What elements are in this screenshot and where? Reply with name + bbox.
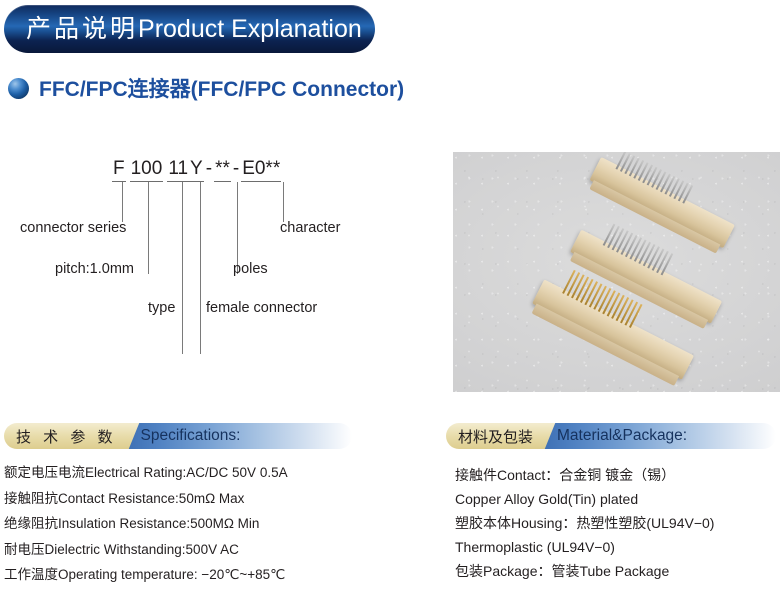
material-list: 接触件Contact：合金铜 镀金（锡） Copper Alloy Gold(T… [455,468,714,588]
section-title-label: FFC/FPC连接器(FFC/FPC Connector) [39,73,404,103]
callout-connector-series: connector series [20,220,126,236]
pn-segment-gender: Y [189,158,204,182]
callout-character: character [280,220,340,236]
banner-text: 产品说明Product Explanation [26,17,362,42]
callout-type: type [148,300,175,316]
callout-pitch: pitch:1.0mm [55,261,134,277]
leader-line-character [283,182,284,222]
pn-dash-2: - [231,158,241,180]
leader-line-female-connector [200,182,201,354]
material-line: Thermoplastic (UL94V−0) [455,540,714,554]
product-photo [453,152,780,392]
section-title: FFC/FPC连接器(FFC/FPC Connector) [8,74,404,102]
spec-line: 工作温度Operating temperature: −20℃~+85℃ [4,568,288,582]
material-line: 接触件Contact：合金铜 镀金（锡） [455,468,714,482]
leader-line-pitch [148,182,149,274]
leader-line-connector-series [122,182,123,222]
material-line: 包装Package：管装Tube Package [455,564,714,578]
spec-line: 接触阻抗Contact Resistance:50mΩ Max [4,492,288,506]
material-header-en: Material&Package: [541,423,776,449]
part-number-string: F10011Y-**-E0** [112,158,281,182]
pn-segment-pitch: 100 [130,158,164,182]
material-header: 材料及包装 Material&Package: [446,423,776,449]
pn-segment-poles: ** [214,158,231,182]
material-header-cn: 材料及包装 [446,423,543,449]
banner-title-cn: 产品说明 [26,15,138,43]
blue-sphere-bullet-icon [8,78,29,99]
pn-dash-1: - [204,158,214,180]
callout-female-connector: female connector [206,300,317,316]
spec-line: 额定电压电流Electrical Rating:AC/DC 50V 0.5A [4,466,288,480]
page-banner: 产品说明Product Explanation [4,5,375,53]
specifications-header: 技 术 参 数 Specifications: [4,423,352,449]
pn-segment-type: 11 [167,158,189,182]
banner-title-en: Product Explanation [138,15,362,43]
part-number-diagram: F10011Y-**-E0** connector series pitch:1… [0,120,430,395]
specifications-header-en: Specifications: [125,423,352,449]
specifications-list: 额定电压电流Electrical Rating:AC/DC 50V 0.5A 接… [4,466,288,594]
spec-line: 耐电压Dielectric Withstanding:500V AC [4,543,288,557]
pn-segment-character: E0** [241,158,281,182]
leader-line-type [182,182,183,354]
material-line: 塑胶本体Housing：热塑性塑胶(UL94V−0) [455,516,714,530]
spec-line: 绝缘阻抗Insulation Resistance:500MΩ Min [4,517,288,531]
callout-poles: poles [233,261,268,277]
pn-segment-series: F [112,158,126,182]
specifications-header-cn: 技 术 参 数 [4,423,127,449]
material-line: Copper Alloy Gold(Tin) plated [455,492,714,506]
